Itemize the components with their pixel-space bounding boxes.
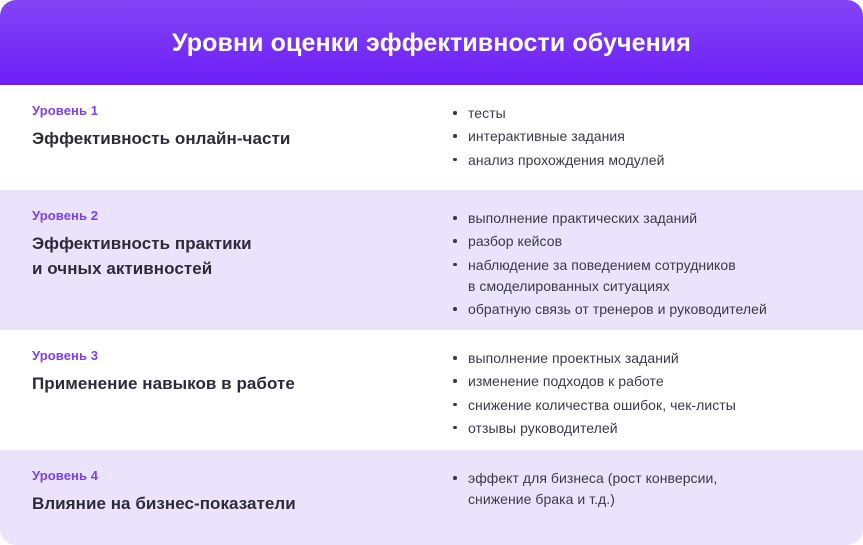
bullet-icon	[453, 379, 457, 383]
list-item-label: разбор кейсов	[468, 231, 839, 252]
list-item-label: эффект для бизнеса (рост конверсии,сниже…	[468, 468, 839, 511]
list-item-label: отзывы руководителей	[468, 418, 839, 439]
bullet-icon	[453, 426, 457, 430]
level-title-3: Применение навыков в работе	[32, 372, 416, 397]
levels-card: Уровни оценки эффективности обучения Уро…	[0, 0, 863, 545]
list-item-label: интерактивные задания	[468, 126, 839, 147]
list-item: разбор кейсов	[450, 231, 839, 252]
level-title-4: Влияние на бизнес-показатели	[32, 492, 416, 517]
level-row-4-left: Уровень 4 Влияние на бизнес-показатели	[0, 450, 440, 517]
list-item: отзывы руководителей	[450, 418, 839, 439]
list-item-label: анализ прохождения модулей	[468, 150, 839, 171]
level-badge-3: Уровень 3	[32, 349, 416, 363]
list-item: обратную связь от тренеров и руководител…	[450, 299, 839, 320]
level-row-2: Уровень 2 Эффективность практикии очных …	[0, 190, 863, 330]
level-title-1: Эффективность онлайн-части	[32, 127, 416, 152]
bullet-icon	[453, 216, 457, 220]
level-1-bullet-list: тестыинтерактивные заданияанализ прохожд…	[450, 103, 839, 171]
level-2-bullet-list: выполнение практических заданийразбор ке…	[450, 208, 839, 320]
level-row-1-right: тестыинтерактивные заданияанализ прохожд…	[440, 85, 863, 173]
level-badge-1: Уровень 1	[32, 104, 416, 118]
list-item: наблюдение за поведением сотрудниковв см…	[450, 255, 839, 298]
level-row-3-left: Уровень 3 Применение навыков в работе	[0, 330, 440, 397]
level-row-3-right: выполнение проектных заданийизменение по…	[440, 330, 863, 441]
bullet-icon	[453, 476, 457, 480]
bullet-icon	[453, 263, 457, 267]
level-title-2: Эффективность практикии очных активносте…	[32, 232, 416, 281]
level-row-2-left: Уровень 2 Эффективность практикии очных …	[0, 190, 440, 282]
list-item-label: выполнение проектных заданий	[468, 348, 839, 369]
card-header: Уровни оценки эффективности обучения	[0, 0, 863, 85]
list-item-label: наблюдение за поведением сотрудниковв см…	[468, 255, 839, 298]
level-row-4-right: эффект для бизнеса (рост конверсии,сниже…	[440, 450, 863, 513]
list-item: выполнение проектных заданий	[450, 348, 839, 369]
list-item-label: снижение количества ошибок, чек-листы	[468, 395, 839, 416]
list-item: интерактивные задания	[450, 126, 839, 147]
list-item: анализ прохождения модулей	[450, 150, 839, 171]
bullet-icon	[453, 134, 457, 138]
list-item: тесты	[450, 103, 839, 124]
bullet-icon	[453, 158, 457, 162]
list-item: снижение количества ошибок, чек-листы	[450, 395, 839, 416]
levels-list: Уровень 1 Эффективность онлайн-части тес…	[0, 85, 863, 545]
list-item: изменение подходов к работе	[450, 371, 839, 392]
bullet-icon	[453, 356, 457, 360]
list-item-label: изменение подходов к работе	[468, 371, 839, 392]
level-3-bullet-list: выполнение проектных заданийизменение по…	[450, 348, 839, 439]
list-item-label: выполнение практических заданий	[468, 208, 839, 229]
level-badge-2: Уровень 2	[32, 209, 416, 223]
list-item: эффект для бизнеса (рост конверсии,сниже…	[450, 468, 839, 511]
bullet-icon	[453, 111, 457, 115]
level-row-4: Уровень 4 Влияние на бизнес-показатели э…	[0, 450, 863, 545]
level-4-bullet-list: эффект для бизнеса (рост конверсии,сниже…	[450, 468, 839, 511]
level-row-1-left: Уровень 1 Эффективность онлайн-части	[0, 85, 440, 152]
level-row-1: Уровень 1 Эффективность онлайн-части тес…	[0, 85, 863, 190]
list-item-label: тесты	[468, 103, 839, 124]
page-title: Уровни оценки эффективности обучения	[172, 28, 691, 58]
level-row-2-right: выполнение практических заданийразбор ке…	[440, 190, 863, 322]
list-item-label: обратную связь от тренеров и руководител…	[468, 299, 839, 320]
bullet-icon	[453, 239, 457, 243]
list-item: выполнение практических заданий	[450, 208, 839, 229]
level-badge-4: Уровень 4	[32, 469, 416, 483]
bullet-icon	[453, 403, 457, 407]
bullet-icon	[453, 307, 457, 311]
level-row-3: Уровень 3 Применение навыков в работе вы…	[0, 330, 863, 450]
